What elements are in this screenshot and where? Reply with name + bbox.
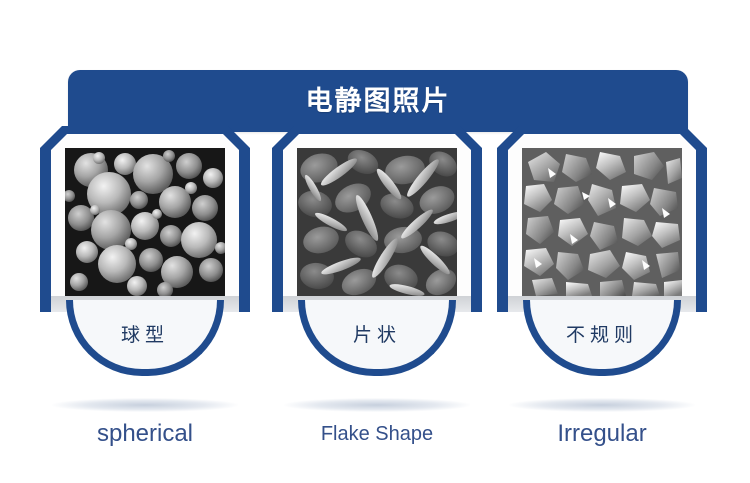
card-caption-en: Flake Shape (272, 419, 482, 449)
title-banner: 电静图照片 (68, 70, 688, 132)
card-caption-en: Irregular (497, 419, 707, 449)
powder-card[interactable]: 球型 (40, 126, 250, 376)
page-title: 电静图照片 (68, 70, 688, 132)
powder-card[interactable]: 片状 (272, 126, 482, 376)
card-drop-shadow (284, 398, 470, 412)
card-label-cn: 球型 (66, 320, 224, 347)
powder-card[interactable]: 不规则 (497, 126, 707, 376)
card-label-panel: 片状 (298, 300, 456, 376)
card-label-panel: 球型 (66, 300, 224, 376)
card-drop-shadow (509, 398, 695, 412)
card-caption-en: spherical (40, 419, 250, 449)
card-label-cn: 不规则 (523, 320, 681, 347)
sem-micrograph-flake-powder (297, 148, 457, 296)
infographic-stage: 电静图照片 (0, 0, 750, 483)
card-label-panel: 不规则 (523, 300, 681, 376)
sem-micrograph-spherical-powder (65, 148, 225, 296)
card-drop-shadow (52, 398, 238, 412)
sem-micrograph-irregular-powder (522, 148, 682, 296)
card-label-cn: 片状 (298, 320, 456, 347)
